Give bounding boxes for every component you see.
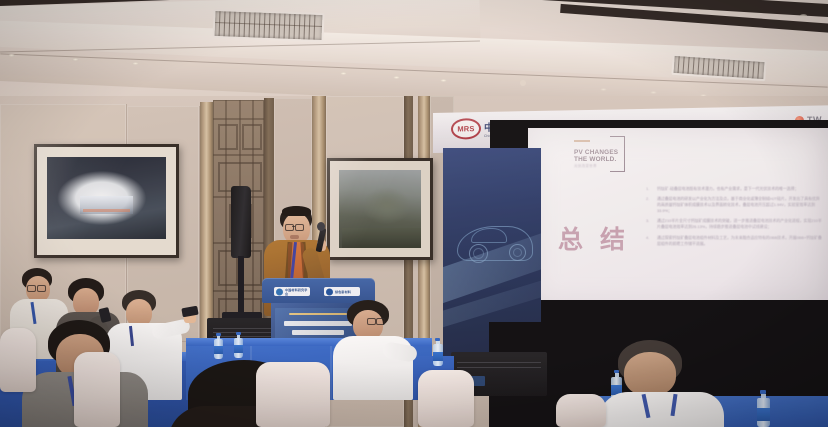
- pv-brand-line2: THE WORLD.: [574, 157, 618, 164]
- slide-title: 总 结: [558, 220, 630, 256]
- water-bottle-foreground-right: [757, 390, 770, 427]
- brand-accent-dash: [574, 140, 590, 142]
- water-bottle-right-table: [433, 338, 443, 366]
- bullet-number: 1.: [646, 186, 649, 192]
- bullet-number: 3.: [646, 218, 649, 224]
- bullet-number: 2.: [646, 196, 649, 202]
- list-item: 3. 通过210半片全尺寸钙钛矿成膜技术的突破，进一步推进叠层电池技术的产业化进…: [646, 218, 822, 230]
- glasses-icon: [27, 285, 49, 290]
- conference-presentation-photo: MRS 中国材料研究学会 Chinese Materials Research …: [0, 0, 828, 427]
- banquet-chair-left: [0, 328, 36, 392]
- banquet-chair-center: [256, 362, 330, 427]
- list-item: 4. 通过探索钙钛矿叠层电池组件材料及工艺，为未来融合适应特有的0BB技术，开展…: [646, 235, 822, 247]
- podium-sponsor-logo-left: 中国材料研究学会: [274, 287, 310, 296]
- bullet-text: 通过叠层电池的研发以产业化为方法及点，基于商业化或薄全制绒HJT硅片，开发出了具…: [657, 196, 822, 214]
- banquet-chair-far-right: [556, 394, 606, 427]
- banquet-chair-mid: [74, 352, 120, 427]
- glasses-icon: [367, 318, 385, 323]
- audience-member-right: [598, 340, 728, 427]
- water-bottle-stage: [214, 333, 223, 359]
- bullet-text: 通过探索钙钛矿叠层电池组件材料及工艺，为未来融合适应特有的0BB技术，开展0BB…: [657, 235, 822, 247]
- bullet-text: 通过210半片全尺寸钙钛矿成膜技术的突破，进一步推进叠层电池技术的产业化进程，实…: [657, 218, 822, 230]
- banquet-chair-right: [418, 370, 474, 427]
- audience-member-center: [333, 300, 419, 400]
- framed-painting-right: [327, 158, 433, 260]
- list-item: 1. 钙钛矿-硅叠层电池既有技术潜力，也有产业需求，是下一代光伏技术的唯一选择；: [646, 186, 822, 192]
- bullet-number: 4.: [646, 235, 649, 241]
- water-bottle-center-table: [234, 332, 243, 358]
- pv-brand-line3: 光伏改变世界: [574, 165, 618, 169]
- presenter-glasses: [285, 224, 308, 229]
- slide-surface: PV CHANGES THE WORLD. 光伏改变世界 总 结 1. 钙钛矿-…: [528, 128, 828, 310]
- pv-brand-lockup: PV CHANGES THE WORLD. 光伏改变世界: [574, 150, 618, 169]
- framed-photograph-left: [34, 144, 179, 258]
- podium-sponsor-logo-right: 绿色新材料: [324, 287, 360, 296]
- hvac-vent: [212, 9, 324, 42]
- list-item: 2. 通过叠层电池的研发以产业化为方法及点，基于商业化或薄全制绒HJT硅片，开发…: [646, 196, 822, 214]
- bullet-text: 钙钛矿-硅叠层电池既有技术潜力，也有产业需求，是下一代光伏技术的唯一选择；: [657, 186, 822, 192]
- slide-bullet-list: 1. 钙钛矿-硅叠层电池既有技术潜力，也有产业需求，是下一代光伏技术的唯一选择；…: [646, 186, 822, 251]
